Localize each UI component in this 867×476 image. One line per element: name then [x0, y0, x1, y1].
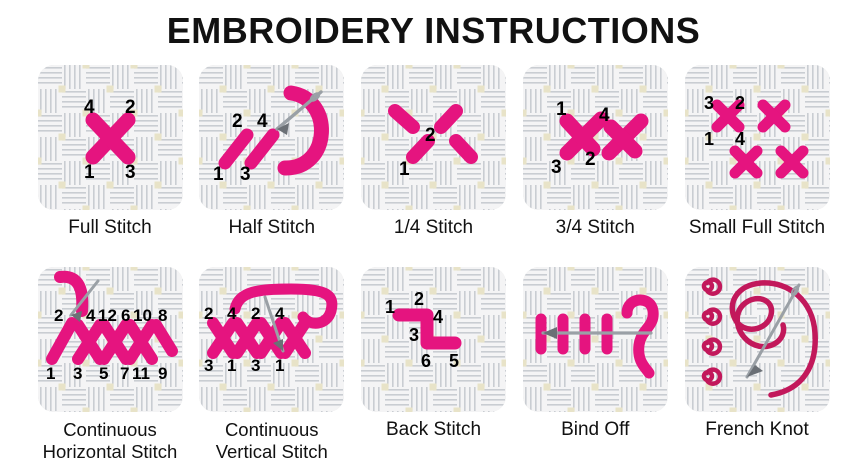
stitch-number: 1	[704, 129, 714, 149]
stitch-diagram-half-stitch: 2 4 1 3	[199, 65, 344, 210]
stitch-number: 2	[125, 97, 136, 118]
stitch-number: 8	[158, 306, 167, 325]
stitch-label-back-stitch: Back Stitch	[386, 419, 481, 441]
stitch-label-small-full-stitch: Small Full Stitch	[689, 217, 825, 239]
stitch-diagram-continuous-vertical-stitch: 2 4 2 4 3 1 3 1	[199, 267, 344, 412]
stitch-cell-three-quarter-stitch[interactable]: 1 4 2 3 3/4 Stitch	[521, 65, 669, 239]
stitch-number: 6	[421, 351, 431, 371]
stitch-number: 12	[98, 306, 117, 325]
stitch-number: 4	[275, 304, 285, 323]
stitch-number: 1	[399, 159, 410, 180]
stitch-cell-small-full-stitch[interactable]: 3 2 1 4 Small Full Stitch	[683, 65, 831, 239]
stitch-number: 4	[433, 307, 443, 327]
stitch-number: 1	[46, 364, 55, 383]
stitch-cell-continuous-horizontal-stitch[interactable]: 2 4 12 6 10 8 1 3 5 7 11 9	[36, 267, 184, 463]
stitch-number: 3	[240, 164, 251, 185]
page-title: EMBROIDERY INSTRUCTIONS	[0, 10, 867, 52]
stitch-row-top: 4 2 1 3 Full Stitch	[0, 65, 867, 239]
stitch-number: 2	[54, 306, 63, 325]
stitch-number: 1	[84, 162, 95, 183]
stitch-number: 6	[121, 306, 130, 325]
stitch-number: 11	[132, 364, 150, 383]
stitch-number: 3	[251, 356, 260, 375]
stitch-cell-quarter-stitch[interactable]: 2 1 1/4 Stitch	[360, 65, 508, 239]
stitch-number: 4	[599, 105, 610, 126]
stitch-number: 5	[449, 351, 459, 371]
stitch-label-full-stitch: Full Stitch	[68, 217, 151, 239]
stitch-label-continuous-vertical-stitch: Continuous Vertical Stitch	[216, 419, 328, 463]
stitch-number: 3	[551, 157, 562, 178]
stitch-grid: 4 2 1 3 Full Stitch	[0, 65, 867, 463]
stitch-diagram-bind-off	[523, 267, 668, 412]
stitch-diagram-back-stitch: 1 2 4 3 6 5	[361, 267, 506, 412]
stitch-cell-back-stitch[interactable]: 1 2 4 3 6 5 Back Stitch	[360, 267, 508, 463]
stitch-label-bind-off: Bind Off	[561, 419, 629, 441]
stitch-number: 3	[125, 162, 136, 183]
stitch-cell-full-stitch[interactable]: 4 2 1 3 Full Stitch	[36, 65, 184, 239]
stitch-number: 4	[735, 129, 745, 149]
stitch-diagram-continuous-horizontal-stitch: 2 4 12 6 10 8 1 3 5 7 11 9	[38, 267, 183, 412]
stitch-number: 1	[556, 99, 567, 120]
stitch-number: 1	[385, 297, 395, 317]
stitch-number: 1	[275, 356, 284, 375]
stitch-diagram-french-knot	[685, 267, 830, 412]
stitch-number: 4	[84, 97, 95, 118]
stitch-number: 2	[204, 304, 213, 323]
stitch-diagram-three-quarter-stitch: 1 4 2 3	[523, 65, 668, 210]
embroidery-instructions-page: EMBROIDERY INSTRUCTIONS	[0, 0, 867, 476]
stitch-cell-bind-off[interactable]: Bind Off	[521, 267, 669, 463]
stitch-number: 7	[120, 364, 129, 383]
stitch-cell-half-stitch[interactable]: 2 4 1 3 Half Stitch	[198, 65, 346, 239]
stitch-number: 4	[227, 304, 237, 323]
stitch-label-half-stitch: Half Stitch	[228, 217, 315, 239]
stitch-number: 2	[232, 111, 243, 132]
stitch-diagram-quarter-stitch: 2 1	[361, 65, 506, 210]
stitch-diagram-full-stitch: 4 2 1 3	[38, 65, 183, 210]
stitch-number: 9	[158, 364, 167, 383]
stitch-number: 10	[133, 306, 152, 325]
stitch-number: 4	[86, 306, 96, 325]
stitch-cell-french-knot[interactable]: French Knot	[683, 267, 831, 463]
stitch-number: 1	[227, 356, 236, 375]
stitch-number: 3	[409, 325, 419, 345]
stitch-number: 1	[213, 164, 224, 185]
stitch-number: 2	[585, 149, 596, 170]
stitch-label-continuous-horizontal-stitch: Continuous Horizontal Stitch	[43, 419, 178, 463]
stitch-label-quarter-stitch: 1/4 Stitch	[394, 217, 473, 239]
stitch-number: 2	[414, 289, 424, 309]
stitch-number: 3	[704, 93, 714, 113]
stitch-label-three-quarter-stitch: 3/4 Stitch	[556, 217, 635, 239]
stitch-number: 4	[257, 111, 268, 132]
stitch-label-french-knot: French Knot	[705, 419, 809, 441]
stitch-number: 2	[251, 304, 260, 323]
stitch-number: 5	[99, 364, 108, 383]
stitch-row-bottom: 2 4 12 6 10 8 1 3 5 7 11 9	[0, 267, 867, 463]
stitch-diagram-small-full-stitch: 3 2 1 4	[685, 65, 830, 210]
stitch-number: 3	[204, 356, 213, 375]
stitch-cell-continuous-vertical-stitch[interactable]: 2 4 2 4 3 1 3 1 Continuous Vertical Stit…	[198, 267, 346, 463]
stitch-number: 2	[425, 125, 436, 146]
stitch-number: 3	[73, 364, 82, 383]
stitch-number: 2	[735, 93, 745, 113]
